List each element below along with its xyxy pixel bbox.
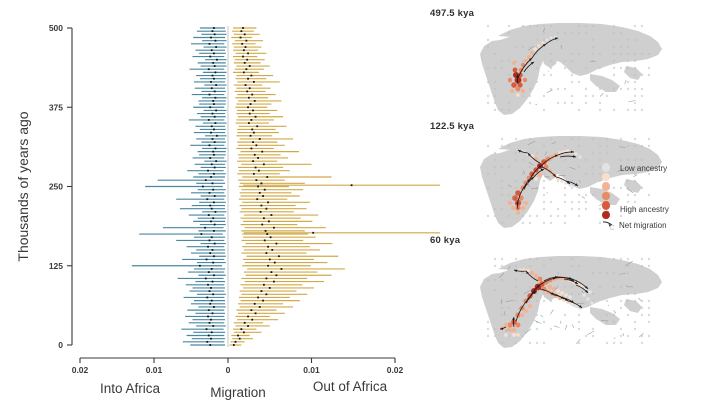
grid-node bbox=[585, 25, 587, 27]
grid-node bbox=[529, 342, 531, 344]
grid-node bbox=[550, 53, 552, 55]
data-point bbox=[209, 205, 211, 207]
data-point bbox=[213, 230, 215, 232]
grid-node bbox=[550, 258, 552, 260]
grid-node bbox=[522, 25, 524, 27]
ancestry-node bbox=[524, 309, 528, 313]
legend-net-migration: Net migration bbox=[602, 220, 667, 230]
minor-migration-arrow bbox=[550, 310, 553, 315]
grid-node bbox=[494, 88, 496, 90]
grid-node bbox=[627, 81, 629, 83]
minor-migration-arrow bbox=[615, 312, 616, 314]
data-point bbox=[267, 265, 269, 267]
minor-migration-arrow bbox=[572, 325, 574, 328]
data-point bbox=[260, 211, 262, 213]
data-point bbox=[254, 154, 256, 156]
ancestry-node bbox=[520, 313, 524, 317]
data-point bbox=[266, 278, 268, 280]
data-point bbox=[205, 278, 207, 280]
ancestry-node bbox=[534, 274, 538, 278]
landmass bbox=[624, 66, 642, 80]
grid-node bbox=[613, 314, 615, 316]
grid-node bbox=[508, 60, 510, 62]
grid-node bbox=[578, 314, 580, 316]
ancestry-node bbox=[533, 47, 537, 51]
grid-node bbox=[564, 187, 566, 189]
grid-node bbox=[487, 81, 489, 83]
grid-node bbox=[508, 145, 510, 147]
data-point bbox=[213, 201, 215, 203]
data-point bbox=[249, 87, 251, 89]
grid-node bbox=[536, 314, 538, 316]
data-point bbox=[211, 163, 213, 165]
grid-node bbox=[606, 300, 608, 302]
data-point bbox=[240, 37, 242, 39]
x-tick-label: 0 bbox=[226, 365, 231, 375]
grid-node bbox=[599, 180, 601, 182]
grid-node bbox=[592, 53, 594, 55]
migration-caption: Migration bbox=[210, 385, 266, 400]
data-point bbox=[211, 331, 213, 333]
grid-node bbox=[515, 152, 517, 154]
grid-node bbox=[529, 265, 531, 267]
data-point bbox=[210, 37, 212, 39]
data-point bbox=[209, 192, 211, 194]
grid-node bbox=[522, 46, 524, 48]
ancestry-node bbox=[588, 290, 592, 294]
grid-node bbox=[620, 286, 622, 288]
ancestry-ramp-swatch bbox=[602, 201, 610, 210]
grid-node bbox=[522, 159, 524, 161]
data-point bbox=[213, 306, 215, 308]
grid-node bbox=[501, 342, 503, 344]
data-point bbox=[253, 81, 255, 83]
data-point bbox=[211, 300, 213, 302]
grid-node bbox=[599, 145, 601, 147]
grid-node bbox=[599, 222, 601, 224]
grid-node bbox=[536, 342, 538, 344]
data-point bbox=[199, 265, 201, 267]
grid-node bbox=[536, 328, 538, 330]
grid-node bbox=[550, 25, 552, 27]
data-point bbox=[209, 56, 211, 58]
grid-node bbox=[634, 102, 636, 104]
ancestry-node bbox=[512, 61, 516, 65]
grid-node bbox=[571, 138, 573, 140]
data-point bbox=[255, 116, 257, 118]
data-point bbox=[244, 62, 246, 64]
grid-node bbox=[641, 74, 643, 76]
grid-node bbox=[613, 286, 615, 288]
grid-node bbox=[522, 173, 524, 175]
data-point bbox=[209, 344, 211, 346]
map-legend: Low ancestry High ancestry Net migration bbox=[602, 163, 698, 233]
grid-node bbox=[550, 67, 552, 69]
grid-node bbox=[627, 272, 629, 274]
grid-node bbox=[529, 215, 531, 217]
minor-migration-arrow bbox=[582, 197, 585, 199]
data-point bbox=[209, 43, 211, 45]
grid-node bbox=[536, 215, 538, 217]
grid-node bbox=[634, 159, 636, 161]
grid-node bbox=[627, 159, 629, 161]
grid-node bbox=[508, 215, 510, 217]
x-tick-label: 0.02 bbox=[72, 365, 89, 375]
grid-node bbox=[543, 321, 545, 323]
grid-node bbox=[571, 208, 573, 210]
grid-node bbox=[494, 152, 496, 154]
grid-node bbox=[606, 95, 608, 97]
grid-node bbox=[564, 60, 566, 62]
grid-node bbox=[536, 152, 538, 154]
grid-node bbox=[578, 138, 580, 140]
grid-node bbox=[592, 95, 594, 97]
grid-node bbox=[508, 307, 510, 309]
grid-node bbox=[557, 272, 559, 274]
y-tick-label: 0 bbox=[58, 340, 63, 350]
grid-node bbox=[578, 166, 580, 168]
data-point bbox=[210, 220, 212, 222]
grid-node bbox=[578, 81, 580, 83]
grid-node bbox=[585, 208, 587, 210]
grid-node bbox=[648, 335, 650, 337]
grid-node bbox=[620, 307, 622, 309]
data-point bbox=[209, 94, 211, 96]
data-point bbox=[211, 125, 213, 127]
data-point bbox=[213, 173, 215, 175]
grid-node bbox=[627, 314, 629, 316]
data-point bbox=[278, 255, 280, 257]
grid-node bbox=[641, 109, 643, 111]
data-point bbox=[212, 281, 214, 283]
grid-node bbox=[641, 342, 643, 344]
data-point bbox=[255, 167, 257, 169]
data-point bbox=[212, 62, 214, 64]
grid-node bbox=[536, 39, 538, 41]
data-point bbox=[250, 135, 252, 137]
data-point bbox=[206, 198, 208, 200]
data-point bbox=[202, 186, 204, 188]
grid-node bbox=[571, 32, 573, 34]
grid-node bbox=[501, 138, 503, 140]
grid-node bbox=[543, 180, 545, 182]
grid-node bbox=[543, 201, 545, 203]
grid-node bbox=[627, 145, 629, 147]
grid-node bbox=[536, 25, 538, 27]
data-point bbox=[252, 160, 254, 162]
grid-node bbox=[494, 102, 496, 104]
ancestry-node bbox=[550, 37, 553, 40]
grid-node bbox=[592, 46, 594, 48]
data-point bbox=[214, 195, 216, 197]
minor-migration-arrow bbox=[614, 338, 615, 339]
grid-node bbox=[515, 180, 517, 182]
ancestry-color-ramp bbox=[602, 163, 610, 220]
grid-node bbox=[627, 265, 629, 267]
ancestry-node bbox=[546, 39, 549, 42]
grid-node bbox=[494, 53, 496, 55]
grid-node bbox=[494, 265, 496, 267]
grid-node bbox=[487, 25, 489, 27]
data-point bbox=[249, 65, 251, 67]
ancestry-node bbox=[556, 289, 560, 293]
error-bars-layer bbox=[132, 28, 440, 345]
grid-node bbox=[606, 138, 608, 140]
data-point bbox=[208, 335, 210, 337]
ancestry-node bbox=[524, 201, 528, 205]
grid-node bbox=[543, 173, 545, 175]
grid-node bbox=[627, 293, 629, 295]
grid-node bbox=[599, 286, 601, 288]
data-point bbox=[214, 167, 216, 169]
data-point bbox=[281, 268, 283, 270]
data-point bbox=[206, 259, 208, 261]
grid-node bbox=[571, 187, 573, 189]
minor-migration-arrow bbox=[535, 320, 542, 323]
grid-node bbox=[613, 342, 615, 344]
grid-node bbox=[606, 272, 608, 274]
grid-node bbox=[487, 328, 489, 330]
grid-node bbox=[571, 102, 573, 104]
data-point bbox=[263, 284, 265, 286]
minor-migration-arrow bbox=[600, 93, 603, 96]
grid-node bbox=[501, 180, 503, 182]
data-point bbox=[213, 154, 215, 156]
data-point bbox=[270, 236, 272, 238]
grid-node bbox=[494, 159, 496, 161]
data-point bbox=[214, 243, 216, 245]
grid-node bbox=[613, 60, 615, 62]
data-point bbox=[268, 220, 270, 222]
data-point bbox=[266, 252, 268, 254]
minor-migration-arrow bbox=[554, 326, 559, 328]
data-point bbox=[211, 268, 213, 270]
data-point bbox=[211, 236, 213, 238]
grid-node bbox=[515, 258, 517, 260]
data-point bbox=[247, 106, 249, 108]
data-point bbox=[261, 224, 263, 226]
grid-node bbox=[494, 279, 496, 281]
grid-node bbox=[543, 342, 545, 344]
data-point bbox=[252, 141, 254, 143]
ancestry-node bbox=[516, 87, 521, 92]
grid-node bbox=[501, 194, 503, 196]
grid-node bbox=[599, 208, 601, 210]
grid-node bbox=[599, 173, 601, 175]
grid-node bbox=[564, 145, 566, 147]
data-point bbox=[212, 113, 214, 115]
grid-node bbox=[508, 102, 510, 104]
grid-node bbox=[648, 321, 650, 323]
data-point bbox=[209, 303, 211, 305]
data-point bbox=[276, 274, 278, 276]
grid-node bbox=[571, 74, 573, 76]
grid-node bbox=[529, 102, 531, 104]
ancestry-node bbox=[512, 333, 516, 337]
data-point bbox=[208, 68, 210, 70]
grid-node bbox=[494, 335, 496, 337]
grid-node bbox=[571, 81, 573, 83]
ancestry-node bbox=[574, 152, 578, 156]
data-point bbox=[211, 87, 213, 89]
landmass bbox=[590, 74, 620, 92]
grid-node bbox=[564, 159, 566, 161]
data-point bbox=[212, 100, 214, 102]
data-point bbox=[213, 27, 215, 29]
data-point bbox=[215, 97, 217, 99]
grid-node bbox=[634, 293, 636, 295]
grid-node bbox=[508, 25, 510, 27]
data-point bbox=[214, 116, 216, 118]
grid-node bbox=[487, 187, 489, 189]
minor-migration-arrow bbox=[565, 325, 567, 330]
legend-low-ancestry: Low ancestry bbox=[615, 164, 667, 173]
data-point bbox=[215, 211, 217, 213]
grid-node bbox=[564, 32, 566, 34]
grid-node bbox=[557, 102, 559, 104]
grid-node bbox=[536, 53, 538, 55]
data-point bbox=[261, 290, 263, 292]
data-point bbox=[257, 297, 259, 299]
grid-node bbox=[634, 74, 636, 76]
data-point bbox=[271, 214, 273, 216]
grid-node bbox=[585, 201, 587, 203]
grid-node bbox=[494, 328, 496, 330]
data-point bbox=[264, 189, 266, 191]
grid-node bbox=[487, 46, 489, 48]
grid-node bbox=[557, 39, 559, 41]
data-point bbox=[239, 338, 241, 340]
grid-node bbox=[508, 109, 510, 111]
grid-node bbox=[641, 95, 643, 97]
data-point bbox=[246, 91, 248, 93]
ancestry-node bbox=[512, 328, 517, 333]
ancestry-node bbox=[552, 287, 556, 291]
grid-node bbox=[501, 279, 503, 281]
grid-node bbox=[494, 208, 496, 210]
ancestry-node bbox=[586, 297, 589, 300]
grid-node bbox=[641, 265, 643, 267]
grid-node bbox=[627, 109, 629, 111]
grid-node bbox=[634, 88, 636, 90]
data-point bbox=[215, 84, 217, 86]
data-point bbox=[256, 198, 258, 200]
grid-node bbox=[613, 258, 615, 260]
grid-node bbox=[592, 152, 594, 154]
ancestry-node bbox=[534, 177, 538, 181]
grid-node bbox=[613, 67, 615, 69]
grid-node bbox=[564, 88, 566, 90]
ancestry-node bbox=[510, 89, 514, 93]
data-point bbox=[215, 148, 217, 150]
ancestry-node bbox=[538, 173, 542, 177]
grid-node bbox=[613, 32, 615, 34]
grid-node bbox=[578, 109, 580, 111]
data-point bbox=[214, 33, 216, 35]
grid-node bbox=[494, 95, 496, 97]
grid-node bbox=[578, 53, 580, 55]
grid-node bbox=[543, 187, 545, 189]
ancestry-node bbox=[582, 293, 586, 297]
data-point bbox=[257, 186, 259, 188]
legend-net-migration-label: Net migration bbox=[619, 221, 667, 230]
grid-node bbox=[620, 300, 622, 302]
grid-node bbox=[620, 258, 622, 260]
ancestry-ramp-swatch bbox=[602, 173, 610, 182]
grid-node bbox=[627, 88, 629, 90]
data-point bbox=[245, 68, 247, 70]
grid-node bbox=[550, 60, 552, 62]
data-point bbox=[247, 325, 249, 327]
grid-node bbox=[634, 300, 636, 302]
grid-node bbox=[613, 272, 615, 274]
data-point bbox=[244, 322, 246, 324]
grid-node bbox=[550, 328, 552, 330]
data-point bbox=[235, 341, 237, 343]
grid-node bbox=[550, 201, 552, 203]
grid-node bbox=[571, 265, 573, 267]
grid-node bbox=[648, 74, 650, 76]
grid-node bbox=[494, 258, 496, 260]
x-tick-label: 0.02 bbox=[387, 365, 404, 375]
grid-node bbox=[543, 293, 545, 295]
grid-node bbox=[522, 272, 524, 274]
data-point bbox=[259, 192, 261, 194]
grid-node bbox=[536, 81, 538, 83]
grid-node bbox=[543, 39, 545, 41]
grid-node bbox=[487, 95, 489, 97]
data-point bbox=[250, 103, 252, 105]
grid-node bbox=[641, 25, 643, 27]
grid-node bbox=[634, 60, 636, 62]
data-point bbox=[251, 129, 253, 131]
data-point bbox=[262, 195, 264, 197]
data-point bbox=[255, 312, 257, 314]
grid-node bbox=[613, 109, 615, 111]
grid-node bbox=[585, 335, 587, 337]
data-point bbox=[207, 316, 209, 318]
grid-node bbox=[543, 222, 545, 224]
data-point bbox=[247, 316, 249, 318]
grid-node bbox=[599, 102, 601, 104]
migration-forest-plot: 0.020.0100.010.020125250375500Thousands … bbox=[0, 0, 440, 406]
grid-node bbox=[620, 159, 622, 161]
data-point bbox=[210, 176, 212, 178]
data-point bbox=[276, 243, 278, 245]
grid-node bbox=[550, 222, 552, 224]
data-point bbox=[243, 331, 245, 333]
grid-node bbox=[564, 286, 566, 288]
grid-node bbox=[620, 67, 622, 69]
ancestry-node bbox=[508, 328, 512, 332]
data-point bbox=[251, 319, 253, 321]
grid-node bbox=[578, 194, 580, 196]
data-point bbox=[215, 40, 217, 42]
data-point bbox=[271, 249, 273, 251]
data-point bbox=[200, 233, 202, 235]
data-point bbox=[244, 33, 246, 35]
ancestry-node bbox=[530, 271, 534, 275]
data-point bbox=[271, 271, 273, 273]
data-point bbox=[267, 246, 269, 248]
grid-node bbox=[501, 208, 503, 210]
minor-migration-arrow bbox=[638, 298, 641, 301]
ancestry-node bbox=[538, 277, 543, 282]
grid-node bbox=[571, 201, 573, 203]
grid-node bbox=[543, 25, 545, 27]
grid-node bbox=[641, 258, 643, 260]
grid-node bbox=[543, 300, 545, 302]
